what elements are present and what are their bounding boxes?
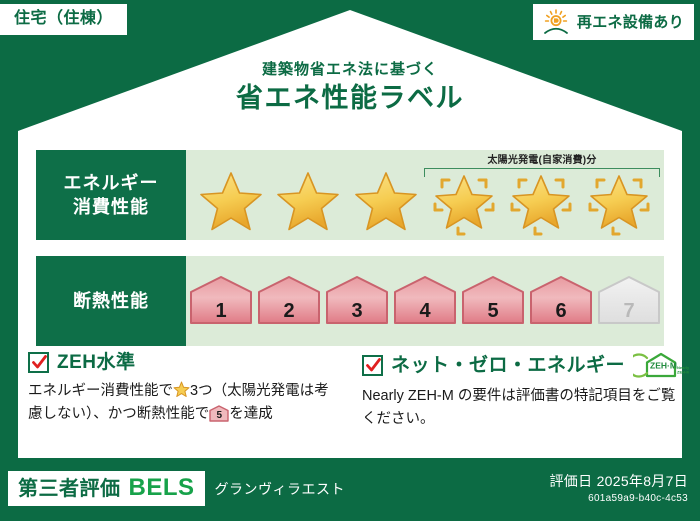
insulation-grade-3-number: 3 bbox=[324, 301, 390, 321]
star-4-solar bbox=[428, 166, 500, 238]
inline-gold-star-icon bbox=[173, 381, 190, 398]
insulation-grade-7: 7 bbox=[596, 275, 662, 327]
evaluation-date-value: 2025年8月7日 bbox=[597, 473, 688, 489]
housing-type-tag: 住宅（住棟） bbox=[0, 4, 127, 35]
star-5-solar bbox=[505, 166, 577, 238]
star-2 bbox=[272, 166, 344, 238]
zeh-standard-note: ZEH水準 エネルギー消費性能で3つ（太陽光発電は考慮しない）、かつ断熱性能で5… bbox=[28, 352, 352, 432]
star-1 bbox=[195, 166, 267, 238]
energy-stars-track: 太陽光発電(自家消費)分 bbox=[186, 150, 664, 240]
insulation-grade-4-number: 4 bbox=[392, 301, 458, 321]
insulation-grade-group: 1 2 3 bbox=[186, 275, 664, 327]
zeh-standard-title: ZEH水準 bbox=[57, 353, 136, 372]
insulation-grade-6: 6 bbox=[528, 275, 594, 327]
net-zero-energy-heading: ネット・ゼロ・エネルギー ZEH·M Nearly ZEH-M bbox=[362, 352, 676, 378]
insulation-grade-1: 1 bbox=[188, 275, 254, 327]
energy-performance-label: 住宅（住棟） 再エネ設備あり 建築物省エネ法に基づく bbox=[0, 0, 700, 521]
sun-solar-icon bbox=[541, 9, 571, 35]
evaluation-date: 評価日 2025年8月7日 bbox=[549, 473, 688, 490]
footer-left-group: 第三者評価 BELS グランヴィラエスト bbox=[8, 471, 345, 506]
zeh-body-part3: を達成 bbox=[229, 406, 273, 422]
energy-performance-row: エネルギー 消費性能 太陽光発電(自家消費)分 bbox=[36, 150, 664, 240]
label-footer: 第三者評価 BELS グランヴィラエスト 評価日 2025年8月7日 601a5… bbox=[0, 463, 700, 521]
insulation-grade-2: 2 bbox=[256, 275, 322, 327]
insulation-grades-track: 1 2 3 bbox=[186, 256, 664, 346]
red-check-icon bbox=[28, 352, 49, 373]
bels-certification-box: 第三者評価 BELS bbox=[8, 471, 205, 506]
label-main-title: 省エネ性能ラベル bbox=[0, 82, 700, 116]
label-subtitle: 建築物省エネ法に基づく bbox=[0, 62, 700, 79]
insulation-performance-row: 断熱性能 bbox=[36, 256, 664, 346]
evaluation-id: 601a59a9-b40c-4c53 bbox=[549, 492, 688, 505]
star-6-solar bbox=[583, 166, 655, 238]
insulation-grade-4: 4 bbox=[392, 275, 458, 327]
evaluation-date-label: 評価日 bbox=[549, 473, 592, 489]
red-check-icon bbox=[362, 355, 383, 376]
energy-label-line1: エネルギー bbox=[64, 171, 159, 195]
zeh-standard-heading: ZEH水準 bbox=[28, 352, 338, 373]
energy-performance-label-box: エネルギー 消費性能 bbox=[36, 150, 186, 240]
third-party-eval-label: 第三者評価 bbox=[18, 479, 121, 499]
insulation-grade-3: 3 bbox=[324, 275, 390, 327]
certification-notes: ZEH水準 エネルギー消費性能で3つ（太陽光発電は考慮しない）、かつ断熱性能で5… bbox=[28, 352, 676, 432]
renewable-equipment-badge: 再エネ設備あり bbox=[533, 4, 694, 40]
zeh-m-house-logo: ZEH·M Nearly ZEH-M bbox=[633, 352, 689, 378]
insulation-grade-6-number: 6 bbox=[528, 301, 594, 321]
star-3 bbox=[350, 166, 422, 238]
building-name: グランヴィラエスト bbox=[215, 482, 346, 496]
label-title-block: 建築物省エネ法に基づく 省エネ性能ラベル bbox=[0, 62, 700, 115]
insulation-grade-7-number: 7 bbox=[596, 301, 662, 321]
insulation-grade-1-number: 1 bbox=[188, 301, 254, 321]
bels-logo-text: BELS bbox=[129, 476, 195, 500]
net-zero-energy-body: Nearly ZEH-M の要件は評価書の特記項目をご覧ください。 bbox=[362, 385, 676, 432]
svg-text:ZEH-M: ZEH-M bbox=[677, 370, 689, 375]
energy-label-line2: 消費性能 bbox=[73, 195, 149, 219]
zeh-body-part1: エネルギー消費性能で bbox=[28, 383, 173, 399]
insulation-label-text: 断熱性能 bbox=[73, 289, 149, 313]
rating-rows: エネルギー 消費性能 太陽光発電(自家消費)分 bbox=[36, 150, 664, 346]
renewable-badge-label: 再エネ設備あり bbox=[577, 15, 684, 30]
solar-bracket-label: 太陽光発電(自家消費)分 bbox=[424, 156, 660, 166]
star-rating-group bbox=[186, 166, 664, 238]
insulation-grade-2-number: 2 bbox=[256, 301, 322, 321]
zeh-standard-body: エネルギー消費性能で3つ（太陽光発電は考慮しない）、かつ断熱性能で5を達成 bbox=[28, 380, 338, 427]
inline-house-grade-icon: 5 bbox=[209, 405, 229, 422]
insulation-grade-5: 5 bbox=[460, 275, 526, 327]
insulation-grade-5-number: 5 bbox=[460, 301, 526, 321]
svg-text:ZEH·M: ZEH·M bbox=[650, 361, 677, 371]
insulation-performance-label-box: 断熱性能 bbox=[36, 256, 186, 346]
footer-right-group: 評価日 2025年8月7日 601a59a9-b40c-4c53 bbox=[549, 473, 688, 505]
net-zero-energy-note: ネット・ゼロ・エネルギー ZEH·M Nearly ZEH-M Nearly Z… bbox=[352, 352, 676, 432]
inline-house-grade-number: 5 bbox=[209, 411, 229, 421]
net-zero-energy-title: ネット・ゼロ・エネルギー bbox=[391, 356, 625, 375]
